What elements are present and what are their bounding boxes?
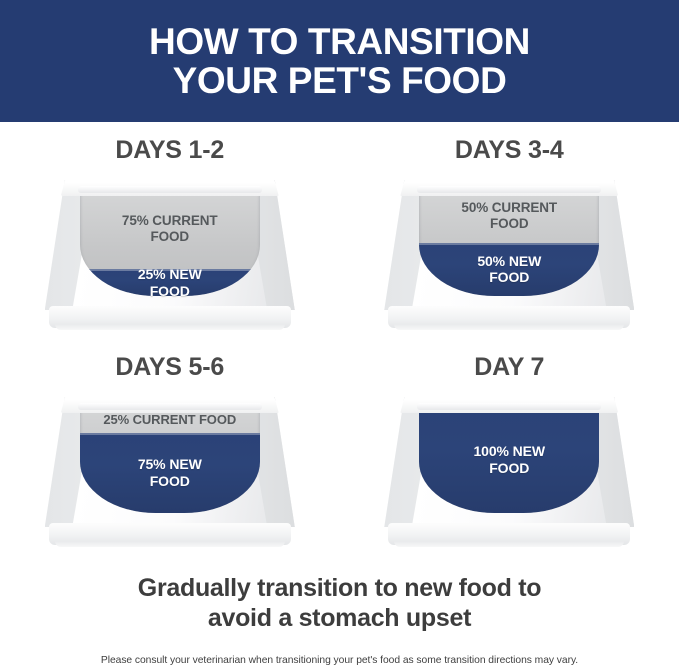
food-portion-labels: 100% NEW FOOD — [419, 406, 599, 513]
header-banner: HOW TO TRANSITION YOUR PET'S FOOD — [0, 0, 679, 122]
bowl-base-shadow — [394, 324, 624, 330]
step-days-1-2: DAYS 1-2 75% CURRENT FOOD 25% NEW FOOD — [0, 136, 340, 353]
step-label: DAYS 3-4 — [455, 136, 564, 165]
step-label: DAY 7 — [474, 353, 544, 382]
current-food-label: 25% CURRENT FOOD — [80, 406, 260, 433]
bowl-base-shadow — [394, 541, 624, 547]
food-bowl-graphic: 75% CURRENT FOOD 25% NEW FOOD — [45, 172, 295, 330]
new-food-label: 100% NEW FOOD — [419, 406, 599, 513]
bowl-base-shadow — [55, 324, 285, 330]
footer-disclaimer: Please consult your veterinarian when tr… — [0, 655, 679, 666]
transition-steps-grid: DAYS 1-2 75% CURRENT FOOD 25% NEW FOOD D… — [0, 122, 679, 570]
new-food-label: 75% NEW FOOD — [80, 433, 260, 513]
new-food-label: 50% NEW FOOD — [419, 243, 599, 297]
bowl-base-shadow — [55, 541, 285, 547]
page-title: HOW TO TRANSITION YOUR PET'S FOOD — [149, 22, 530, 100]
food-portion-labels: 75% CURRENT FOOD 25% NEW FOOD — [80, 189, 260, 296]
step-label: DAYS 1-2 — [115, 136, 224, 165]
current-food-label: 75% CURRENT FOOD — [80, 189, 260, 269]
step-label: DAYS 5-6 — [115, 353, 224, 382]
food-bowl-graphic: 50% CURRENT FOOD 50% NEW FOOD — [384, 172, 634, 330]
step-days-3-4: DAYS 3-4 50% CURRENT FOOD 50% NEW FOOD — [340, 136, 679, 353]
food-bowl-graphic: 25% CURRENT FOOD 75% NEW FOOD — [45, 389, 295, 547]
food-portion-labels: 25% CURRENT FOOD 75% NEW FOOD — [80, 406, 260, 513]
food-bowl-graphic: 100% NEW FOOD — [384, 389, 634, 547]
footer-section: Gradually transition to new food to avoi… — [0, 574, 679, 666]
step-days-5-6: DAYS 5-6 25% CURRENT FOOD 75% NEW FOOD — [0, 353, 340, 570]
step-day-7: DAY 7 100% NEW FOOD — [340, 353, 679, 570]
footer-headline: Gradually transition to new food to avoi… — [0, 574, 679, 633]
current-food-label: 50% CURRENT FOOD — [419, 189, 599, 243]
new-food-label: 25% NEW FOOD — [80, 269, 260, 296]
food-portion-labels: 50% CURRENT FOOD 50% NEW FOOD — [419, 189, 599, 296]
